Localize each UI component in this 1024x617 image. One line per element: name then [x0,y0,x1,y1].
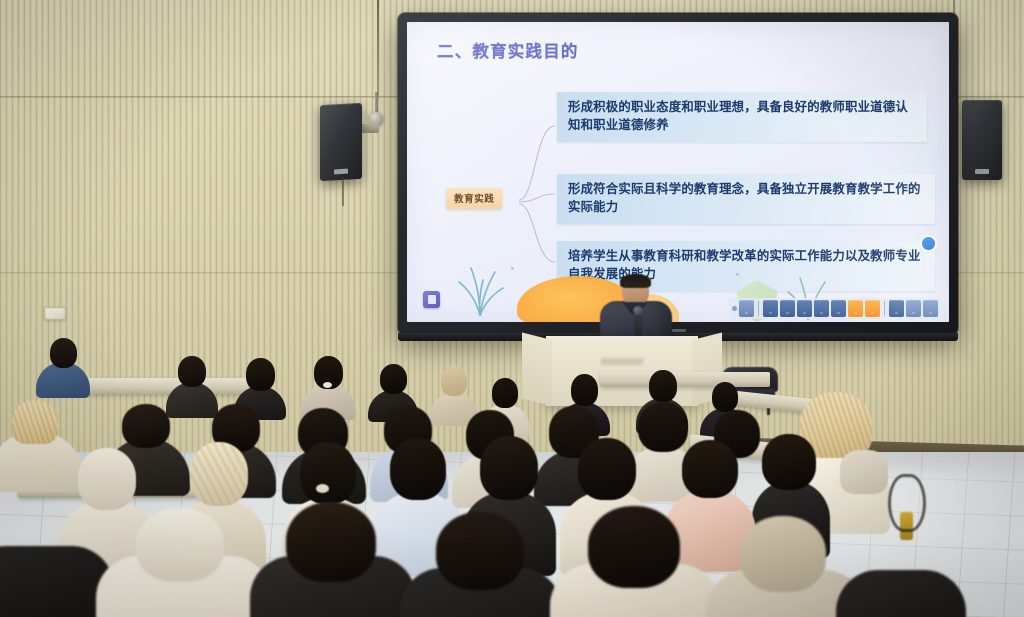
hair-clip-icon [323,382,332,388]
head [578,438,636,500]
slide-bullet-1: 形成积极的职业态度和职业理想，具备良好的教师职业道德认知和职业道德修养 [557,92,927,142]
more-icon[interactable]: •• [906,300,921,317]
head [178,356,206,387]
presenter-hair [620,274,651,288]
pen-icon[interactable]: •• [763,300,778,317]
speaker-cabinet-left [320,103,362,181]
mindmap-root-tag: 教育实践 [446,188,502,209]
wall-outlet-left [44,307,66,320]
head [682,440,738,498]
head [390,438,446,500]
head [286,502,376,582]
head [122,404,170,448]
document-badge-icon [423,291,440,308]
slide-bullet-2: 形成符合实际且科学的教育理念，具备独立开展教育教学工作的实际能力 [557,174,935,224]
slide-title: 二、教育实践目的 [437,38,579,62]
pointer-icon[interactable]: A [739,300,754,317]
head [441,366,467,396]
audience-person-b4 [300,356,356,414]
head [78,448,136,510]
undo-icon[interactable]: •• [865,300,880,317]
user-avatar-icon[interactable] [922,237,935,250]
audience-front-3 [250,502,416,617]
head [649,370,677,402]
toolbar-divider-1 [758,301,759,316]
presentation-screen[interactable]: 二、教育实践目的 教育实践 形成积极的职业态度和职业理想，具备良好的教师职业道德… [407,22,949,322]
speaker-logo-right [975,169,989,174]
speaker-cable-left [342,178,344,206]
microphone-head [633,306,643,315]
close-icon[interactable]: •• [923,300,938,317]
scarf [840,450,888,494]
highlight-icon[interactable]: •• [831,300,846,317]
head [136,508,224,582]
head [436,512,524,590]
decor-dot-1 [511,267,514,270]
audience-front-4 [400,512,562,617]
ceiling-wire-left [377,0,379,98]
audience-front-5 [550,506,720,617]
head [740,516,826,592]
hair-clip-icon [316,484,329,493]
leaf-sprig-icon [455,260,505,316]
head [380,364,407,394]
audience-front-2 [96,508,272,617]
toolbar-handle[interactable] [732,306,737,311]
decor-dot-3 [736,273,739,276]
audience-front-7 [836,530,966,617]
audience-person-b1 [36,338,90,394]
slide-toolbar[interactable]: A •• •• •• •• •• •• •• •• •• •• [729,298,941,319]
page-icon[interactable]: •• [848,300,863,317]
speaker-cabinet-right [962,100,1002,180]
bag-strap [888,474,926,532]
head [762,434,816,490]
redo-icon[interactable]: •• [889,300,904,317]
coat [836,570,966,617]
text-icon[interactable]: •• [814,300,829,317]
head [50,338,77,368]
head [300,442,356,504]
eraser-icon[interactable]: •• [780,300,795,317]
lecture-hall-scene: 二、教育实践目的 教育实践 形成积极的职业态度和职业理想，具备良好的教师职业道德… [0,0,1024,617]
speaker-logo-left [334,169,348,175]
interactive-display[interactable]: 二、教育实践目的 教育实践 形成积极的职业态度和职业理想，具备良好的教师职业道德… [398,13,958,335]
head [480,436,538,500]
toolbar-divider-2 [884,301,885,316]
knit-beanie-icon [12,400,58,444]
audience [0,330,1024,617]
shape-icon[interactable]: •• [797,300,812,317]
head [190,442,248,506]
head [492,378,518,408]
head [571,374,598,406]
head [588,506,680,588]
head [246,358,275,391]
